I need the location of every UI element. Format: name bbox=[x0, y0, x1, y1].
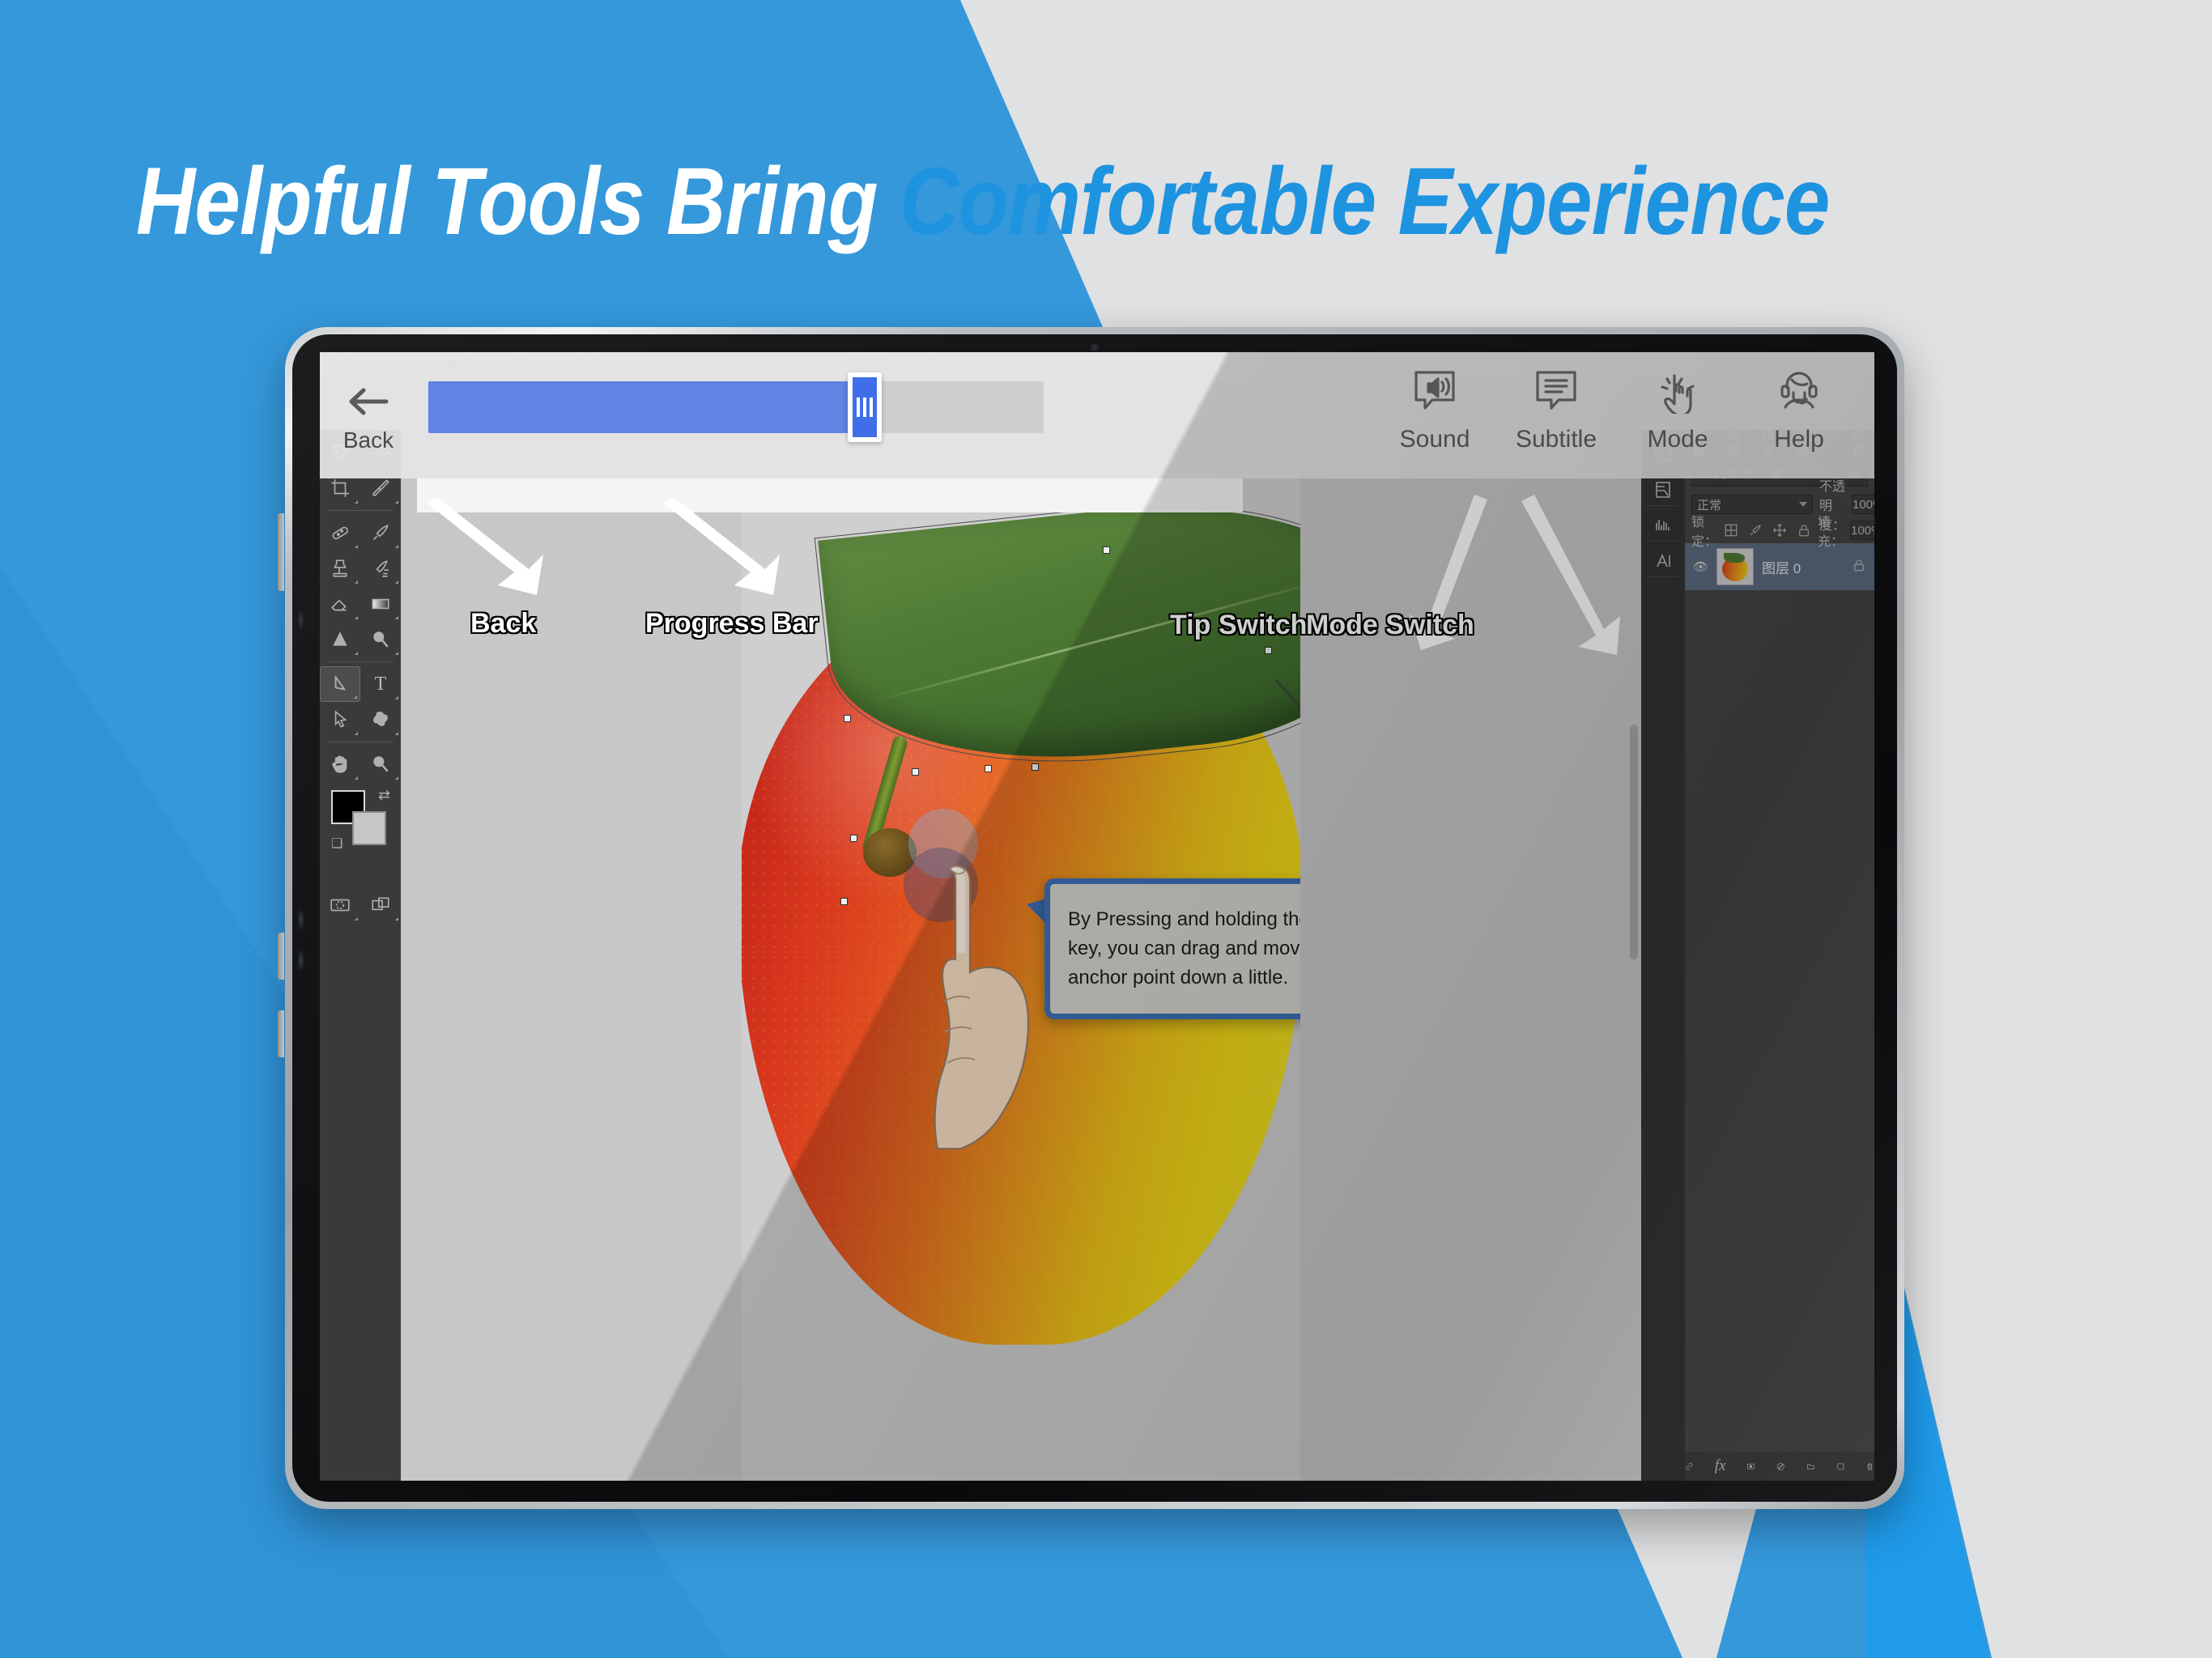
screen-mode-tool[interactable] bbox=[360, 887, 401, 923]
front-camera-icon bbox=[1090, 342, 1100, 352]
adjustments-panel-icon[interactable] bbox=[1647, 474, 1679, 506]
speaker-grille bbox=[297, 909, 304, 930]
tool-separator bbox=[328, 510, 393, 511]
opacity-value[interactable]: 100% bbox=[1852, 495, 1874, 514]
fx-icon[interactable]: fx bbox=[1715, 1457, 1726, 1475]
trash-icon[interactable] bbox=[1865, 1459, 1874, 1474]
zoom-tool[interactable] bbox=[360, 746, 401, 782]
speaker-grille bbox=[297, 610, 304, 631]
thumbnail-leaf-shape bbox=[1724, 553, 1745, 563]
speaker-grille bbox=[297, 950, 304, 971]
blur-tool[interactable] bbox=[320, 622, 360, 657]
photoshop-right-panels: 图层 通道 路径 历史记录 动作 ⌕ 类型 bbox=[1641, 430, 1874, 1481]
path-anchor-point[interactable] bbox=[1103, 546, 1110, 554]
sound-bubble-icon bbox=[1411, 367, 1458, 418]
page-title: Helpful Tools Bring Comfortable Experien… bbox=[136, 152, 1830, 253]
sound-button[interactable]: Sound bbox=[1374, 352, 1495, 453]
lock-image-icon[interactable] bbox=[1748, 523, 1763, 538]
canvas-artwork-mango: By Pressing and holding the Ctrl key, yo… bbox=[742, 430, 1300, 1481]
histogram-panel-icon[interactable] bbox=[1647, 509, 1679, 542]
chevron-down-icon bbox=[1799, 502, 1807, 507]
headset-support-icon bbox=[1776, 367, 1823, 418]
layers-panel: 图层 通道 路径 历史记录 动作 ⌕ 类型 bbox=[1685, 430, 1874, 1481]
path-anchor-point[interactable] bbox=[1032, 763, 1039, 771]
healing-brush-tool[interactable] bbox=[320, 515, 360, 551]
mode-button-label: Mode bbox=[1647, 426, 1708, 453]
tooltip-callout: By Pressing and holding the Ctrl key, yo… bbox=[1044, 878, 1300, 1019]
layer-lock-icon[interactable] bbox=[1852, 558, 1866, 576]
clone-stamp-tool[interactable] bbox=[320, 551, 360, 586]
arrow-left-icon bbox=[346, 383, 391, 424]
layer-visibility-icon[interactable]: 👁 bbox=[1693, 559, 1708, 574]
photoshop-window: PS 文件(F) 编辑(E) 图像(I) 图层(L) 类型(Y) 选择(S) 滤… bbox=[320, 352, 1874, 1481]
mask-icon[interactable] bbox=[1746, 1459, 1755, 1474]
photoshop-canvas[interactable]: By Pressing and holding the Ctrl key, yo… bbox=[401, 430, 1641, 1481]
tablet-bezel: PS 文件(F) 编辑(E) 图像(I) 图层(L) 类型(Y) 选择(S) 滤… bbox=[292, 334, 1897, 1502]
new-layer-icon[interactable] bbox=[1836, 1459, 1845, 1474]
eraser-tool[interactable] bbox=[320, 586, 360, 622]
fill-label: 填充： bbox=[1818, 511, 1844, 550]
brush-tool[interactable] bbox=[360, 515, 401, 551]
type-tool[interactable]: T bbox=[360, 666, 401, 702]
annotation-label-back: Back bbox=[470, 608, 536, 640]
lock-label: 锁定： bbox=[1691, 511, 1717, 550]
progress-bar-container[interactable] bbox=[417, 352, 1374, 433]
history-brush-tool[interactable] bbox=[360, 551, 401, 586]
lock-all-icon[interactable] bbox=[1797, 523, 1811, 538]
path-anchor-point[interactable] bbox=[844, 715, 851, 722]
hand-tool[interactable] bbox=[320, 746, 360, 782]
progress-bar-fill bbox=[428, 381, 866, 433]
tap-finger-icon bbox=[1654, 367, 1701, 418]
power-button[interactable] bbox=[278, 1010, 284, 1057]
volume-down-button[interactable] bbox=[278, 933, 284, 980]
mode-button[interactable]: Mode bbox=[1617, 352, 1738, 453]
panel-icon-rail bbox=[1641, 430, 1685, 1481]
subtitle-button[interactable]: Subtitle bbox=[1495, 352, 1617, 453]
lock-position-icon[interactable] bbox=[1772, 523, 1787, 538]
volume-up-button[interactable] bbox=[278, 513, 284, 591]
default-colors-icon[interactable]: ❏ bbox=[331, 835, 342, 852]
folder-icon[interactable] bbox=[1806, 1459, 1815, 1474]
path-anchor-point[interactable] bbox=[985, 765, 992, 772]
lock-options-row: 锁定： 填充： 100% bbox=[1685, 517, 1874, 543]
help-button[interactable]: Help bbox=[1738, 352, 1860, 453]
photoshop-tool-panel: T bbox=[320, 430, 401, 1481]
path-anchor-point[interactable] bbox=[850, 835, 857, 842]
annotation-label-tip-switch: Tip Switch bbox=[1170, 610, 1307, 641]
tool-separator bbox=[328, 661, 393, 662]
back-button[interactable]: Back bbox=[320, 352, 417, 478]
page-title-part-blue: Comfortable Experience bbox=[900, 148, 1829, 255]
background-color-swatch[interactable] bbox=[352, 811, 386, 845]
layer-list-item[interactable]: 👁 图层 0 bbox=[1685, 543, 1874, 590]
progress-bar-handle[interactable] bbox=[848, 372, 882, 442]
poster-stage: Helpful Tools Bring Comfortable Experien… bbox=[0, 0, 2212, 1658]
fill-value[interactable]: 100% bbox=[1850, 521, 1874, 540]
help-button-label: Help bbox=[1774, 426, 1824, 453]
annotation-label-mode-switch: Mode Switch bbox=[1306, 610, 1474, 641]
path-anchor-point[interactable] bbox=[840, 898, 848, 905]
app-content-strip bbox=[417, 478, 1243, 512]
adjustment-icon[interactable] bbox=[1776, 1459, 1785, 1474]
sound-button-label: Sound bbox=[1400, 426, 1470, 453]
overlay-tool-group: Sound Subtitle bbox=[1374, 352, 1874, 453]
link-icon[interactable] bbox=[1685, 1459, 1694, 1474]
tool-separator bbox=[328, 742, 393, 742]
swap-colors-icon[interactable]: ⇄ bbox=[378, 787, 390, 804]
page-title-part-white: Helpful Tools Bring bbox=[136, 148, 900, 255]
annotation-label-progress-bar: Progress Bar bbox=[645, 608, 819, 640]
progress-bar-track[interactable] bbox=[428, 381, 1044, 433]
path-selection-tool[interactable] bbox=[320, 702, 360, 738]
layers-panel-footer: fx bbox=[1685, 1452, 1874, 1481]
tablet-screen: PS 文件(F) 编辑(E) 图像(I) 图层(L) 类型(Y) 选择(S) 滤… bbox=[320, 352, 1874, 1481]
subtitle-button-label: Subtitle bbox=[1516, 426, 1597, 453]
quick-mask-tool[interactable] bbox=[320, 887, 360, 923]
back-button-label: Back bbox=[343, 427, 393, 453]
character-panel-icon[interactable] bbox=[1647, 545, 1679, 577]
tablet-device: PS 文件(F) 编辑(E) 图像(I) 图层(L) 类型(Y) 选择(S) 滤… bbox=[285, 327, 1904, 1509]
canvas-vertical-scrollbar[interactable] bbox=[1630, 725, 1638, 959]
dodge-tool[interactable] bbox=[360, 622, 401, 657]
app-top-toolbar: Back bbox=[320, 352, 1874, 478]
color-swatches[interactable]: ⇄ ❏ bbox=[331, 790, 401, 863]
shape-tool[interactable] bbox=[360, 702, 401, 738]
path-anchor-point[interactable] bbox=[912, 768, 919, 776]
lock-icon-group bbox=[1724, 523, 1811, 538]
layer-name[interactable]: 图层 0 bbox=[1762, 557, 1801, 577]
path-anchor-point[interactable] bbox=[1265, 647, 1272, 654]
subtitle-bubble-icon bbox=[1533, 367, 1580, 418]
pen-tool[interactable] bbox=[320, 666, 360, 702]
lock-transparency-icon[interactable] bbox=[1724, 523, 1738, 538]
gradient-tool[interactable] bbox=[360, 586, 401, 622]
layer-thumbnail bbox=[1716, 548, 1754, 585]
